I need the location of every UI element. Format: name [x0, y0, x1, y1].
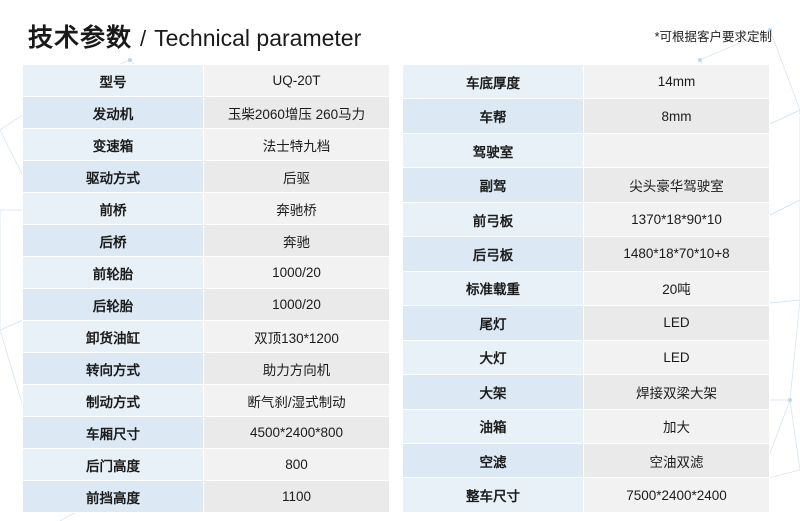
spec-key: 油箱	[403, 409, 584, 443]
table-row: 型号 UQ-20T	[23, 65, 390, 97]
page-title-en: Technical parameter	[154, 25, 361, 52]
spec-key: 前轮胎	[23, 257, 204, 289]
spec-value: 1000/20	[204, 257, 390, 289]
spec-value: 1000/20	[204, 289, 390, 321]
spec-value: 1100	[204, 481, 390, 513]
spec-value: 助力方向机	[204, 353, 390, 385]
table-row: 后桥 奔驰	[23, 225, 390, 257]
table-row: 大灯 LED	[403, 340, 770, 374]
table-row: 副驾 尖头豪华驾驶室	[403, 168, 770, 202]
page-title-cn: 技术参数	[28, 18, 132, 54]
table-row: 车帮 8mm	[403, 99, 770, 133]
spec-key: 副驾	[403, 168, 584, 202]
table-row: 大架 焊接双梁大架	[403, 375, 770, 409]
spec-value: 法士特九档	[204, 129, 390, 161]
spec-value: 断气刹/湿式制动	[204, 385, 390, 417]
table-row: 车底厚度 14mm	[403, 65, 770, 99]
spec-key: 标准载重	[403, 271, 584, 305]
spec-key: 发动机	[23, 97, 204, 129]
spec-key: 整车尺寸	[403, 478, 584, 513]
spec-table-right: 车底厚度 14mm 车帮 8mm 驾驶室 副驾 尖头豪华驾驶室 前弓板 1	[402, 64, 770, 513]
spec-key: 后桥	[23, 225, 204, 257]
spec-value: 800	[204, 449, 390, 481]
page-content: 技术参数 / Technical parameter *可根据客户要求定制 型号…	[0, 0, 800, 513]
spec-value: 焊接双梁大架	[584, 375, 770, 409]
spec-key: 空滤	[403, 443, 584, 477]
spec-value: UQ-20T	[204, 65, 390, 97]
spec-value: 双顶130*1200	[204, 321, 390, 353]
spec-key: 驱动方式	[23, 161, 204, 193]
spec-value: 奔驰	[204, 225, 390, 257]
spec-tables: 型号 UQ-20T 发动机 玉柴2060增压 260马力 变速箱 法士特九档 驱…	[0, 64, 800, 513]
table-row: 前挡高度 1100	[23, 481, 390, 513]
table-row: 车厢尺寸 4500*2400*800	[23, 417, 390, 449]
spec-value: LED	[584, 340, 770, 374]
spec-table-right-body: 车底厚度 14mm 车帮 8mm 驾驶室 副驾 尖头豪华驾驶室 前弓板 1	[403, 65, 770, 513]
spec-key: 车厢尺寸	[23, 417, 204, 449]
spec-key: 驾驶室	[403, 133, 584, 167]
spec-key: 前挡高度	[23, 481, 204, 513]
spec-key: 卸货油缸	[23, 321, 204, 353]
table-row: 卸货油缸 双顶130*1200	[23, 321, 390, 353]
spec-key: 车帮	[403, 99, 584, 133]
spec-value: LED	[584, 306, 770, 340]
spec-value: 1370*18*90*10	[584, 202, 770, 236]
table-row: 制动方式 断气刹/湿式制动	[23, 385, 390, 417]
spec-value	[584, 133, 770, 167]
spec-key: 前弓板	[403, 202, 584, 236]
table-row: 转向方式 助力方向机	[23, 353, 390, 385]
spec-key: 变速箱	[23, 129, 204, 161]
page-header: 技术参数 / Technical parameter *可根据客户要求定制	[0, 0, 800, 64]
table-row: 空滤 空油双滤	[403, 443, 770, 477]
spec-key: 型号	[23, 65, 204, 97]
customization-note: *可根据客户要求定制	[655, 26, 772, 47]
table-row: 后轮胎 1000/20	[23, 289, 390, 321]
table-row: 后门高度 800	[23, 449, 390, 481]
spec-key: 尾灯	[403, 306, 584, 340]
spec-value: 1480*18*70*10+8	[584, 237, 770, 271]
spec-value: 4500*2400*800	[204, 417, 390, 449]
table-row: 驱动方式 后驱	[23, 161, 390, 193]
spec-key: 后门高度	[23, 449, 204, 481]
spec-key: 后轮胎	[23, 289, 204, 321]
spec-table-left: 型号 UQ-20T 发动机 玉柴2060增压 260马力 变速箱 法士特九档 驱…	[22, 64, 390, 513]
table-row: 后弓板 1480*18*70*10+8	[403, 237, 770, 271]
table-row: 前轮胎 1000/20	[23, 257, 390, 289]
table-row: 油箱 加大	[403, 409, 770, 443]
table-row: 尾灯 LED	[403, 306, 770, 340]
table-row: 整车尺寸 7500*2400*2400	[403, 478, 770, 513]
spec-value: 加大	[584, 409, 770, 443]
spec-key: 大架	[403, 375, 584, 409]
spec-value: 8mm	[584, 99, 770, 133]
table-row: 标准载重 20吨	[403, 271, 770, 305]
spec-table-left-body: 型号 UQ-20T 发动机 玉柴2060增压 260马力 变速箱 法士特九档 驱…	[23, 65, 390, 513]
spec-value: 后驱	[204, 161, 390, 193]
spec-value: 尖头豪华驾驶室	[584, 168, 770, 202]
title-separator: /	[140, 26, 146, 52]
spec-value: 奔驰桥	[204, 193, 390, 225]
spec-value: 7500*2400*2400	[584, 478, 770, 513]
table-row: 变速箱 法士特九档	[23, 129, 390, 161]
spec-value: 20吨	[584, 271, 770, 305]
spec-key: 制动方式	[23, 385, 204, 417]
spec-value: 空油双滤	[584, 443, 770, 477]
table-row: 驾驶室	[403, 133, 770, 167]
spec-key: 大灯	[403, 340, 584, 374]
spec-key: 车底厚度	[403, 65, 584, 99]
table-row: 前弓板 1370*18*90*10	[403, 202, 770, 236]
spec-value: 玉柴2060增压 260马力	[204, 97, 390, 129]
table-row: 发动机 玉柴2060增压 260马力	[23, 97, 390, 129]
spec-key: 转向方式	[23, 353, 204, 385]
spec-value: 14mm	[584, 65, 770, 99]
spec-key: 后弓板	[403, 237, 584, 271]
spec-key: 前桥	[23, 193, 204, 225]
table-row: 前桥 奔驰桥	[23, 193, 390, 225]
